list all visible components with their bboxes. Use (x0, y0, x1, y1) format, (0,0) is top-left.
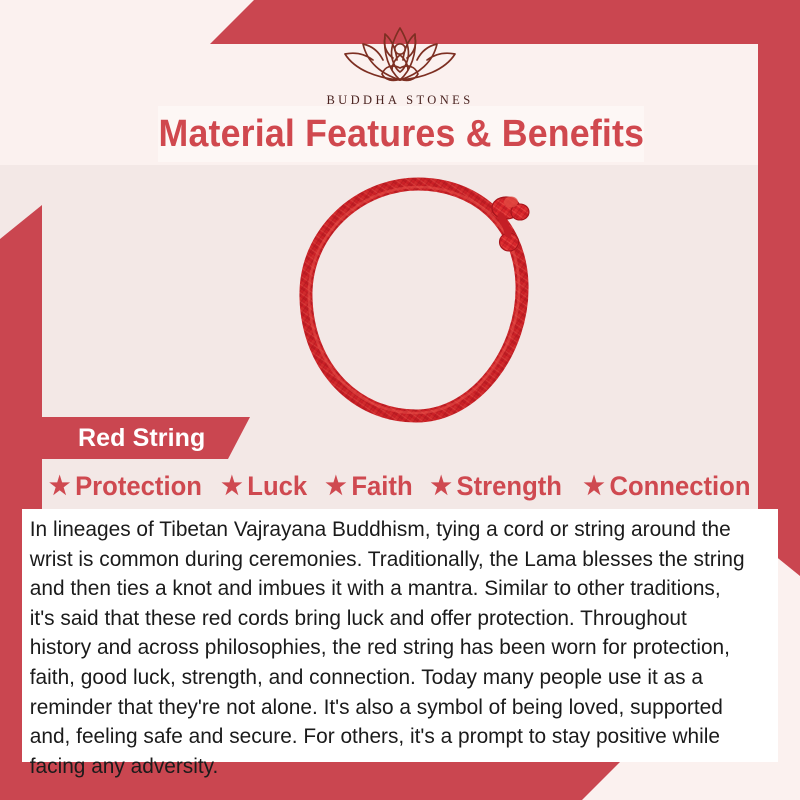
star-icon: ★ (49, 474, 70, 499)
page-title: Material Features & Benefits (158, 113, 644, 156)
benefit-item: ★ Protection (49, 471, 202, 502)
lotus-meditation-icon (325, 22, 475, 88)
benefit-label: Faith (351, 471, 412, 502)
benefit-item: ★ Faith (325, 471, 412, 502)
description-text: In lineages of Tibetan Vajrayana Buddhis… (22, 509, 755, 781)
product-image (268, 172, 568, 430)
description-panel: In lineages of Tibetan Vajrayana Buddhis… (22, 509, 778, 762)
benefit-label: Protection (75, 471, 202, 502)
star-icon: ★ (583, 474, 604, 499)
star-icon: ★ (221, 474, 242, 499)
title-plate: Material Features & Benefits (158, 106, 644, 162)
benefit-label: Strength (457, 471, 562, 502)
benefit-item: ★ Strength (431, 471, 563, 502)
star-icon: ★ (431, 474, 452, 499)
star-icon: ★ (325, 474, 346, 499)
benefit-item: ★ Connection (583, 471, 750, 502)
red-braided-bracelet-illustration (268, 172, 568, 430)
benefit-item: ★ Luck (221, 471, 307, 502)
product-label-text: Red String (78, 424, 205, 453)
benefit-label: Connection (609, 471, 750, 502)
infographic-canvas: BUDDHA STONES Material Features & Benefi… (0, 0, 800, 800)
product-label-ribbon: Red String (22, 417, 250, 459)
brand-logo: BUDDHA STONES (0, 22, 800, 108)
benefits-row: ★ Protection ★ Luck ★ Faith ★ Strength ★… (22, 466, 778, 506)
benefit-label: Luck (247, 471, 307, 502)
